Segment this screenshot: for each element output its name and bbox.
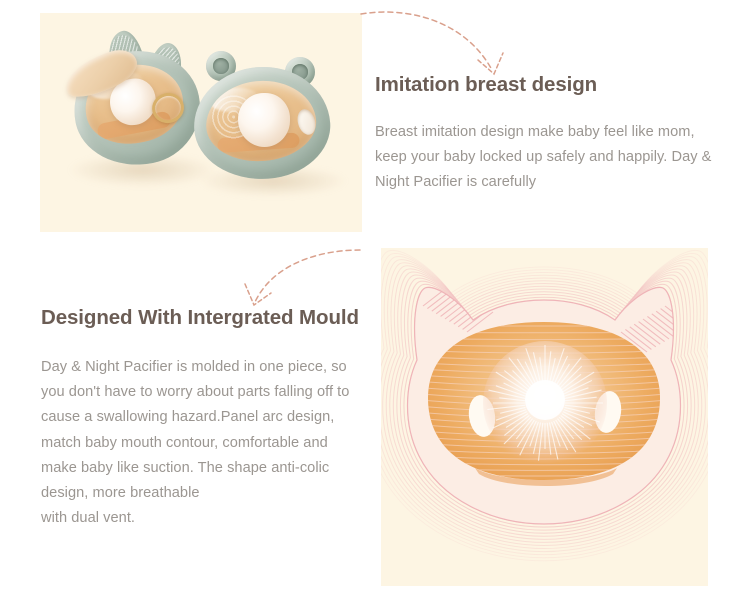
intergrated-mould-text: Designed With Intergrated Mould Day & Ni… xyxy=(41,305,361,531)
intergrated-mould-image-panel xyxy=(381,248,708,586)
pacifier-frog-front xyxy=(188,51,343,191)
feature-body-imitation-breast-design: Breast imitation design make baby feel l… xyxy=(375,120,715,195)
product-feature-page: Imitation breast design Breast imitation… xyxy=(0,0,750,602)
feature-heading-intergrated-mould: Designed With Intergrated Mould xyxy=(41,305,361,331)
imitation-breast-design-image-panel xyxy=(40,13,362,232)
feature-heading-imitation-breast-design: Imitation breast design xyxy=(375,72,715,98)
imitation-breast-design-text: Imitation breast design Breast imitation… xyxy=(375,72,715,196)
pink-contour-pacifier-graphic xyxy=(381,248,708,586)
contour-pacifier-stage xyxy=(381,248,708,586)
feature-body-intergrated-mould: Day & Night Pacifier is molded in one pi… xyxy=(41,355,361,531)
pacifier-nipple-burst xyxy=(483,341,607,465)
pacifier-nipple xyxy=(238,93,290,147)
